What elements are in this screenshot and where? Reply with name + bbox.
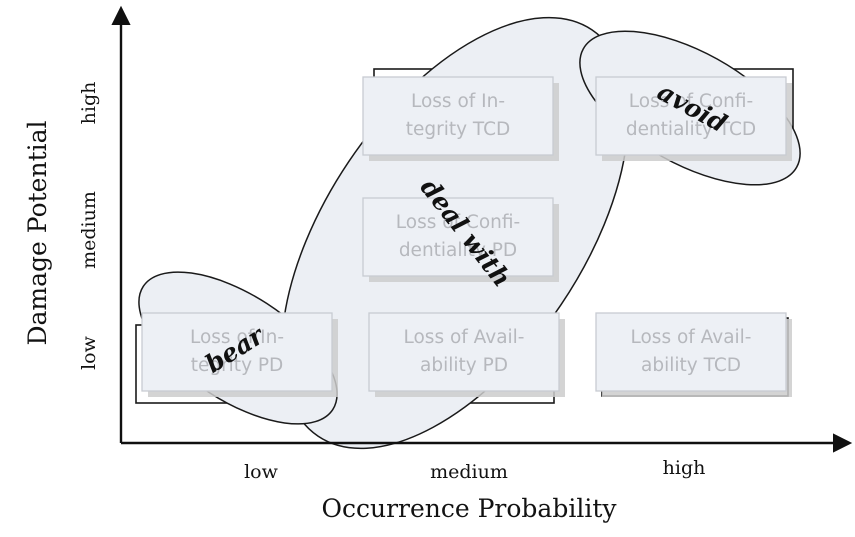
y-tick-low: low <box>78 335 100 370</box>
x-axis-title: Occurrence Probability <box>321 494 617 523</box>
cell-box <box>363 77 553 155</box>
x-tick-low: low <box>244 461 279 483</box>
y-tick-high: high <box>78 82 100 125</box>
x-tick-medium: medium <box>430 461 508 483</box>
risk-matrix-diagram: Loss of In- tegrity TCD Loss of Confi- d… <box>0 0 855 537</box>
cell-loss-availability-tcd[interactable]: Loss of Avail- ability TCD <box>596 313 792 397</box>
cell-label-line2: ability PD <box>420 355 508 376</box>
cell-label-line1: Loss of Avail- <box>631 327 752 348</box>
cell-label-line2: ability TCD <box>641 355 741 376</box>
x-tick-high: high <box>663 457 706 479</box>
y-tick-medium: medium <box>78 191 100 269</box>
cell-box <box>369 313 559 391</box>
cell-box <box>596 313 786 391</box>
diagram-canvas: Loss of In- tegrity TCD Loss of Confi- d… <box>0 0 855 537</box>
y-axis-title: Damage Potential <box>23 120 52 345</box>
cell-loss-availability-pd[interactable]: Loss of Avail- ability PD <box>369 313 565 397</box>
cell-label-line1: Loss of Avail- <box>404 327 525 348</box>
cell-label-line1: Loss of In- <box>411 91 505 112</box>
x-axis-tick-labels: low medium high <box>244 457 705 483</box>
y-axis-tick-labels: high medium low <box>78 82 100 370</box>
cell-label-line2: tegrity TCD <box>406 119 511 140</box>
cell-loss-integrity-tcd[interactable]: Loss of In- tegrity TCD <box>363 77 559 161</box>
